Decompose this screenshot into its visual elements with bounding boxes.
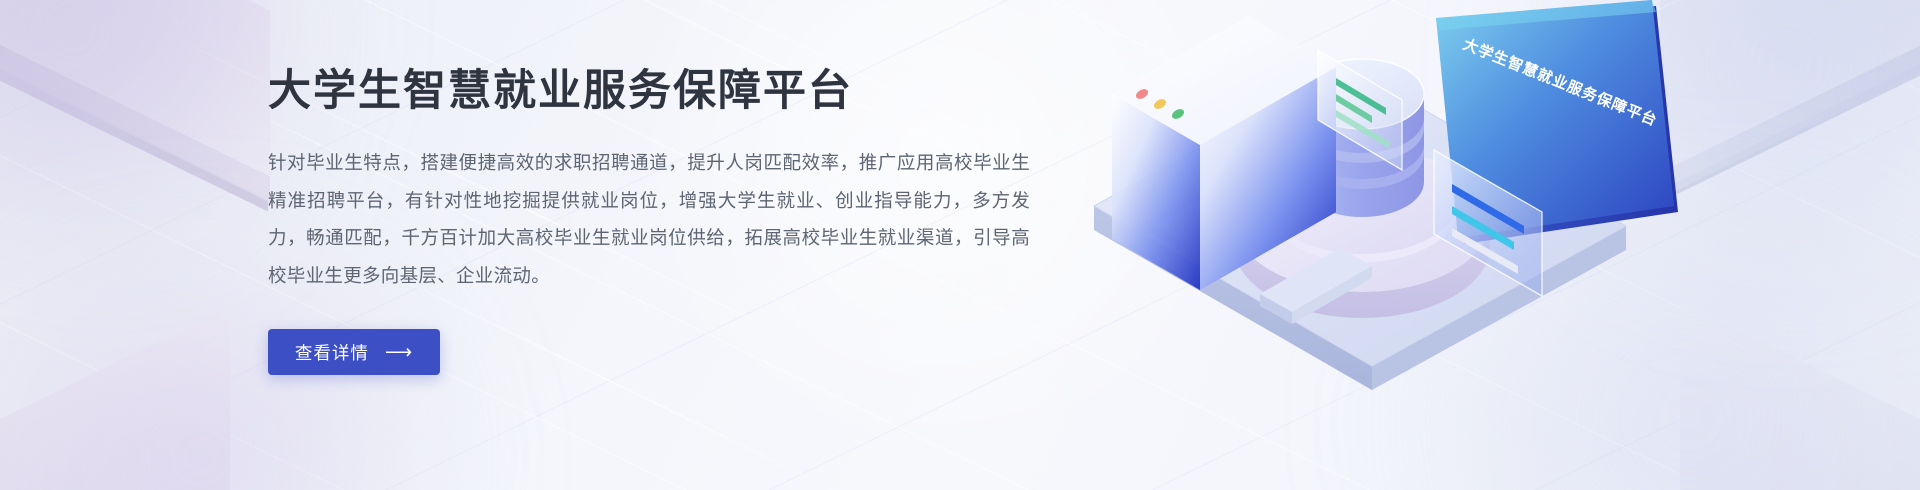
page-title: 大学生智慧就业服务保障平台 (268, 66, 1068, 118)
arrow-right-icon: ⟶ (385, 343, 413, 362)
corner-platform-top-left (0, 0, 270, 200)
view-details-button[interactable]: 查看详情 ⟶ (268, 329, 440, 375)
banner-description: 针对毕业生特点，搭建便捷高效的求职招聘通道，提升人岗匹配效率，推广应用高校毕业生… (268, 144, 1030, 296)
corner-platform-top-right-edge (1660, 12, 1920, 199)
banner-content: 大学生智慧就业服务保障平台 针对毕业生特点，搭建便捷高效的求职招聘通道，提升人岗… (268, 66, 1068, 375)
corner-platform-top-right (1660, 0, 1920, 190)
isometric-illustration: 大学生智慧就业服务保障平台 (1090, 0, 1690, 364)
corner-platform-bottom-right (1680, 302, 1920, 490)
view-details-label: 查看详情 (295, 340, 369, 365)
corner-platform-bottom-left (0, 307, 230, 490)
hero-banner: 大学生智慧就业服务保障平台 针对毕业生特点，搭建便捷高效的求职招聘通道，提升人岗… (0, 0, 1920, 490)
corner-platform-top-left-edge (0, 16, 270, 203)
